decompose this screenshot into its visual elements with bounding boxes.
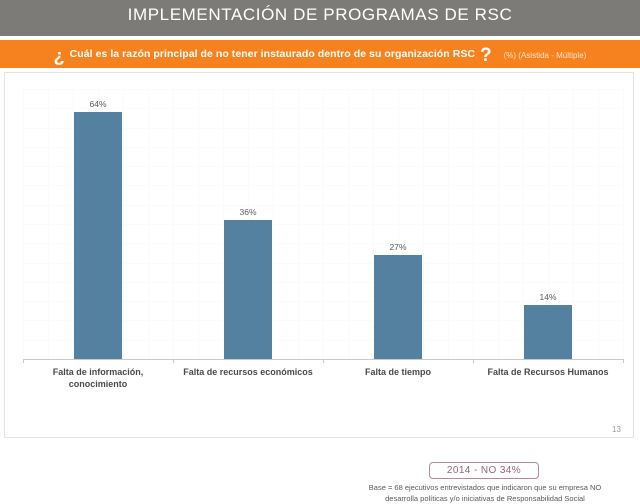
axis-tick: [623, 359, 624, 363]
page-title: IMPLEMENTACIÓN DE PROGRAMAS DE RSC: [0, 5, 640, 25]
category-label: Falta de Recursos Humanos: [473, 366, 623, 378]
bar[interactable]: [524, 305, 572, 359]
chart-container: 64%36%27%14% Falta de información,conoci…: [4, 72, 634, 438]
gridline-vertical: [623, 89, 624, 359]
plot-area: 64%36%27%14%: [23, 89, 623, 359]
category-label-line: Falta de tiempo: [323, 366, 473, 378]
bar-value-label: 27%: [368, 242, 428, 252]
status-badge: 2014 - NO 34%: [429, 462, 539, 479]
bar-value-label: 64%: [68, 99, 128, 109]
category-label: Falta de información,conocimiento: [23, 366, 173, 390]
gridline-horizontal: [23, 89, 623, 90]
footnote-line-2: desarrolla políticas y/o iniciativas de …: [335, 493, 635, 504]
question-note: (%) (Asistida - Múltiple): [504, 51, 587, 60]
bar-value-label: 36%: [218, 207, 278, 217]
bar[interactable]: [374, 255, 422, 359]
page-number: 13: [612, 425, 621, 434]
question-mark-icon: ?: [480, 46, 492, 65]
bar-value-label: 14%: [518, 292, 578, 302]
question-band-content: ¿ Cuál es la razón principal de no tener…: [0, 40, 640, 68]
category-label-line: Falta de información,: [23, 366, 173, 378]
axis-tick: [173, 359, 174, 363]
question-text: Cuál es la razón principal de no tener i…: [70, 48, 475, 60]
footnote: Base = 68 ejecutivos entrevistados que i…: [335, 482, 635, 504]
inverted-question-mark-icon: ¿: [54, 47, 65, 65]
category-label: Falta de tiempo: [323, 366, 473, 378]
category-label-line: conocimiento: [23, 378, 173, 390]
slide-canvas: IMPLEMENTACIÓN DE PROGRAMAS DE RSC ¿ Cuá…: [0, 0, 640, 448]
footnote-line-1: Base = 68 ejecutivos entrevistados que i…: [335, 482, 635, 493]
bar[interactable]: [224, 220, 272, 359]
category-label-line: Falta de recursos económicos: [173, 366, 323, 378]
bar[interactable]: [74, 112, 122, 359]
category-label: Falta de recursos económicos: [173, 366, 323, 378]
axis-tick: [23, 359, 24, 363]
question-band: ¿ Cuál es la razón principal de no tener…: [0, 40, 640, 68]
axis-tick: [323, 359, 324, 363]
axis-tick: [473, 359, 474, 363]
category-label-line: Falta de Recursos Humanos: [473, 366, 623, 378]
